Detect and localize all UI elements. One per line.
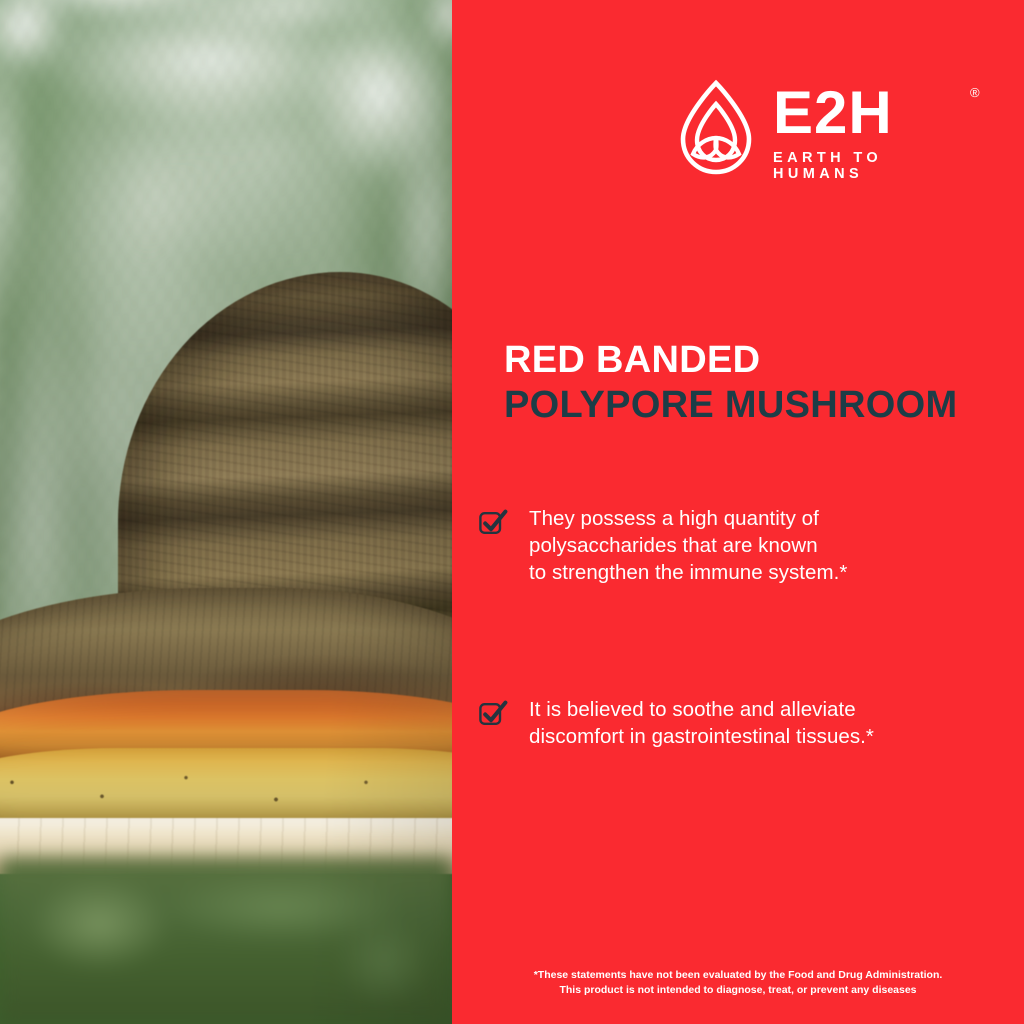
fda-disclaimer: *These statements have not been evaluate… — [452, 968, 1024, 998]
conk-yellow-pore-band — [0, 748, 452, 826]
product-info-poster: E2H ® EARTH TO HUMANS RED BANDED POLYPOR… — [0, 0, 1024, 1024]
checkbox-checked-icon — [478, 698, 508, 728]
title-line-2: POLYPORE MUSHROOM — [504, 382, 1009, 428]
disclaimer-line-1: *These statements have not been evaluate… — [452, 968, 1024, 983]
list-item-text: They possess a high quantity of polysacc… — [529, 505, 847, 586]
list-item: It is believed to soothe and alleviate d… — [478, 696, 1018, 750]
list-item-line: It is believed to soothe and alleviate — [529, 696, 874, 723]
brand-tagline: EARTH TO HUMANS — [773, 150, 969, 182]
list-item-text: It is believed to soothe and alleviate d… — [529, 696, 874, 750]
checkbox-checked-icon — [478, 507, 508, 537]
brand-logo[interactable]: E2H ® EARTH TO HUMANS — [677, 78, 969, 180]
title-line-1: RED BANDED — [504, 338, 1009, 382]
disclaimer-line-2: This product is not intended to diagnose… — [452, 983, 1024, 998]
brand-wordmark: E2H ® EARTH TO HUMANS — [773, 84, 969, 182]
registered-trademark-icon: ® — [970, 86, 980, 99]
blurred-understory — [0, 858, 452, 1024]
list-item-line: polysaccharides that are known — [529, 532, 847, 559]
water-drop-leaf-icon — [677, 78, 755, 178]
benefits-list: They possess a high quantity of polysacc… — [478, 505, 1018, 750]
list-item-line: discomfort in gastrointestinal tissues.* — [529, 723, 874, 750]
page-title: RED BANDED POLYPORE MUSHROOM — [504, 338, 1009, 428]
list-item-line: They possess a high quantity of — [529, 505, 847, 532]
info-panel: E2H ® EARTH TO HUMANS RED BANDED POLYPOR… — [452, 0, 1024, 1024]
list-item: They possess a high quantity of polysacc… — [478, 505, 1018, 586]
mushroom-photo — [0, 0, 452, 1024]
brand-name: E2H — [773, 84, 969, 142]
list-item-line: to strengthen the immune system.* — [529, 559, 847, 586]
